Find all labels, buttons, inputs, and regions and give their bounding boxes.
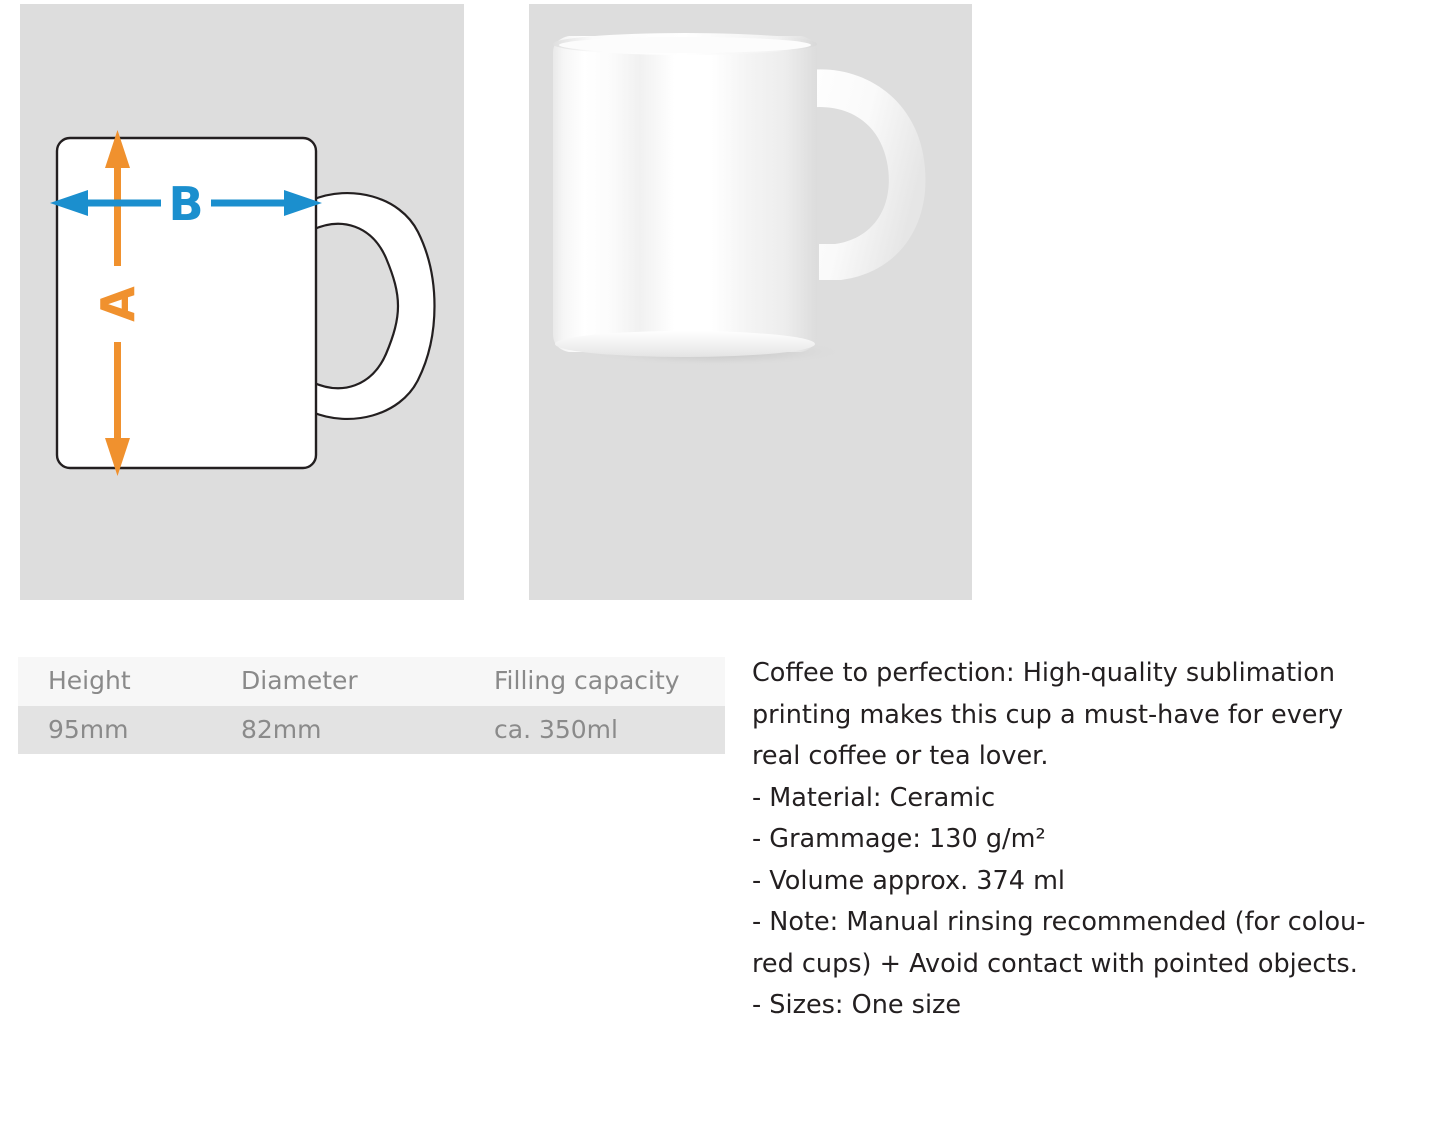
cell-filling-capacity-value: ca. 350ml — [464, 706, 725, 755]
description-line: real coffee or tea lover. — [752, 736, 1407, 778]
description-line-sizes: - Sizes: One size — [752, 985, 1407, 1027]
cell-diameter-value: 82mm — [211, 706, 464, 755]
svg-text:B: B — [168, 177, 203, 231]
column-header-filling-capacity: Filling capacity — [464, 657, 725, 706]
product-description: Coffee to perfection: High-quality subli… — [752, 653, 1407, 1027]
description-line-material: - Material: Ceramic — [752, 778, 1407, 820]
mug-product-photo-svg — [529, 4, 972, 600]
table-header-row: Height Diameter Filling capacity — [18, 657, 725, 706]
mug-dimension-diagram-svg: A B — [20, 4, 464, 600]
mug-rim-inner — [559, 37, 811, 53]
column-header-height: Height — [18, 657, 211, 706]
mug-handle-outline — [312, 193, 435, 419]
height-label-A: A — [91, 266, 145, 342]
column-header-diameter: Diameter — [211, 657, 464, 706]
table-row: 95mm 82mm ca. 350ml — [18, 706, 725, 755]
mug-dimension-diagram-panel: A B — [20, 4, 464, 600]
description-line: printing makes this cup a must-have for … — [752, 695, 1407, 737]
diameter-label-B: B — [161, 176, 211, 232]
mug-base — [555, 331, 815, 357]
mug-body — [553, 36, 817, 352]
cell-height-value: 95mm — [18, 706, 211, 755]
mug-product-photo-panel — [529, 4, 972, 600]
specifications-table: Height Diameter Filling capacity 95mm 82… — [18, 657, 725, 754]
description-line-volume: - Volume approx. 374 ml — [752, 861, 1407, 903]
svg-text:A: A — [91, 286, 145, 322]
description-line-grammage: - Grammage: 130 g/m² — [752, 819, 1407, 861]
description-line: Coffee to perfection: High-quality subli… — [752, 653, 1407, 695]
description-line-note: - Note: Manual rinsing recommended (for … — [752, 902, 1407, 944]
description-line: red cups) + Avoid contact with pointed o… — [752, 944, 1407, 986]
